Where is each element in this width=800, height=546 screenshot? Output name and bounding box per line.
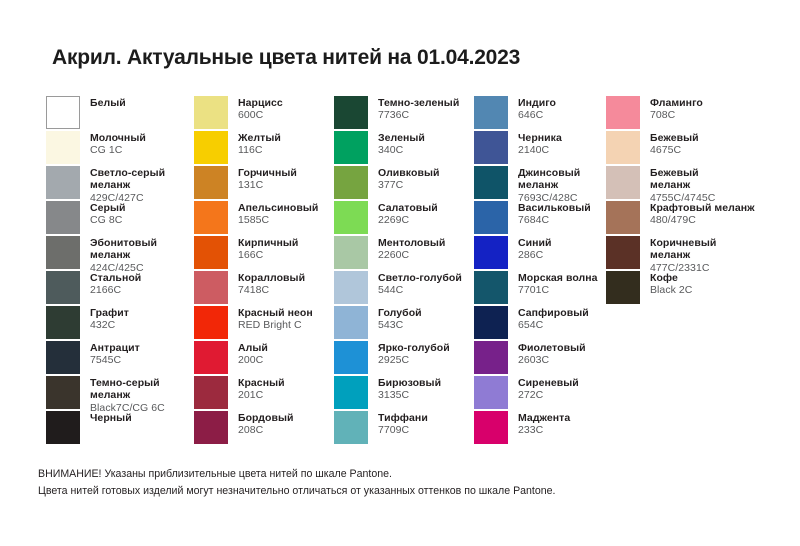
color-labels: Индиго646C xyxy=(518,96,556,122)
color-swatch[interactable] xyxy=(194,306,228,339)
color-labels: Маджента233C xyxy=(518,411,570,437)
color-name: Нарцисс xyxy=(238,97,283,109)
color-row[interactable]: Салатовый2269C xyxy=(334,201,474,236)
color-name: Зеленый xyxy=(378,132,425,144)
color-swatch[interactable] xyxy=(194,236,228,269)
color-name: Салатовый xyxy=(378,202,438,214)
pantone-code: 200C xyxy=(238,354,268,366)
color-name: Красный xyxy=(238,377,285,389)
color-row[interactable]: Бежевый4675C xyxy=(606,131,776,166)
color-row[interactable]: Графит432C xyxy=(46,306,194,341)
color-labels: Красный201C xyxy=(238,376,285,402)
color-row[interactable]: Темно-серыймеланжBlack7C/CG 6C xyxy=(46,376,194,411)
pantone-code: 708C xyxy=(650,109,703,121)
color-name: Бордовый xyxy=(238,412,293,424)
color-swatch[interactable] xyxy=(334,96,368,129)
color-swatch[interactable] xyxy=(474,201,508,234)
pantone-code: 7545C xyxy=(90,354,140,366)
color-name: Оливковый xyxy=(378,167,439,179)
color-swatch[interactable] xyxy=(334,376,368,409)
color-row[interactable]: Темно-зеленый7736C xyxy=(334,96,474,131)
color-name: Бежевыймеланж xyxy=(650,167,715,192)
pantone-code: 208C xyxy=(238,424,293,436)
color-name: Сиреневый xyxy=(518,377,579,389)
color-labels: Бирюзовый3135C xyxy=(378,376,441,402)
color-labels: Ярко-голубой2925C xyxy=(378,341,450,367)
color-swatch[interactable] xyxy=(46,236,80,269)
color-swatch[interactable] xyxy=(194,131,228,164)
color-row[interactable]: Крафтовый меланж480/479C xyxy=(606,201,776,236)
color-name: Тиффани xyxy=(378,412,428,424)
pantone-code: 646C xyxy=(518,109,556,121)
color-name: Эбонитовыймеланж xyxy=(90,237,157,262)
color-row[interactable]: Кирпичный166C xyxy=(194,236,334,271)
color-swatch[interactable] xyxy=(474,96,508,129)
color-name: Синий xyxy=(518,237,552,249)
color-row[interactable]: Апельсиновый1585C xyxy=(194,201,334,236)
pantone-code: 2269C xyxy=(378,214,438,226)
color-labels: Ментоловый2260C xyxy=(378,236,445,262)
color-labels: Оливковый377C xyxy=(378,166,439,192)
color-row[interactable]: Васильковый7684C xyxy=(474,201,606,236)
color-labels: Сапфировый654C xyxy=(518,306,589,332)
color-labels: Сиреневый272C xyxy=(518,376,579,402)
color-swatch[interactable] xyxy=(606,236,640,269)
color-swatch[interactable] xyxy=(474,376,508,409)
color-swatch[interactable] xyxy=(474,411,508,444)
color-labels: Темно-серыймеланжBlack7C/CG 6C xyxy=(90,376,165,414)
color-swatch[interactable] xyxy=(474,341,508,374)
color-row[interactable]: Ментоловый2260C xyxy=(334,236,474,271)
color-row[interactable]: Коралловый7418C xyxy=(194,271,334,306)
color-swatch[interactable] xyxy=(334,131,368,164)
color-swatch[interactable] xyxy=(46,201,80,234)
color-swatch[interactable] xyxy=(334,166,368,199)
column-4-blues: Индиго646CЧерника2140CДжинсовыймеланж769… xyxy=(474,96,606,446)
color-row[interactable]: Бордовый208C xyxy=(194,411,334,446)
color-name: Серый xyxy=(90,202,126,214)
color-swatch[interactable] xyxy=(46,376,80,409)
color-swatch[interactable] xyxy=(606,96,640,129)
color-swatch[interactable] xyxy=(334,271,368,304)
footer-note: ВНИМАНИЕ! Указаны приблизительные цвета … xyxy=(38,466,556,500)
pantone-code: 432C xyxy=(90,319,129,331)
color-row[interactable]: Коричневыймеланж477C/2331C xyxy=(606,236,776,271)
pantone-code: 233C xyxy=(518,424,570,436)
color-swatch[interactable] xyxy=(194,271,228,304)
color-labels: Голубой543C xyxy=(378,306,422,332)
color-row[interactable]: Красный201C xyxy=(194,376,334,411)
color-row[interactable]: Светло-серыймеланж429C/427C xyxy=(46,166,194,201)
pantone-code: 377C xyxy=(378,179,439,191)
color-row[interactable]: Джинсовыймеланж7693C/428C xyxy=(474,166,606,201)
color-name: Черный xyxy=(90,412,132,424)
color-labels: Салатовый2269C xyxy=(378,201,438,227)
color-swatch[interactable] xyxy=(46,306,80,339)
pantone-code: 543C xyxy=(378,319,422,331)
color-row[interactable]: Фламинго708C xyxy=(606,96,776,131)
color-swatch[interactable] xyxy=(46,411,80,444)
pantone-code: 201C xyxy=(238,389,285,401)
pantone-code: 7709C xyxy=(378,424,428,436)
color-row[interactable]: Сиреневый272C xyxy=(474,376,606,411)
color-swatch[interactable] xyxy=(194,96,228,129)
color-swatch[interactable] xyxy=(606,271,640,304)
color-row[interactable]: Ярко-голубой2925C xyxy=(334,341,474,376)
color-labels: Черный xyxy=(90,411,132,424)
column-5-browns: Фламинго708CБежевый4675CБежевыймеланж475… xyxy=(606,96,776,306)
color-swatch[interactable] xyxy=(194,341,228,374)
color-labels: Красный неонRED Bright C xyxy=(238,306,313,332)
pantone-code: CG 1C xyxy=(90,144,146,156)
pantone-code: 2260C xyxy=(378,249,445,261)
pantone-code: CG 8C xyxy=(90,214,126,226)
color-row[interactable]: Тиффани7709C xyxy=(334,411,474,446)
color-swatch[interactable] xyxy=(334,341,368,374)
color-row[interactable]: Красный неонRED Bright C xyxy=(194,306,334,341)
color-row[interactable]: МолочныйCG 1C xyxy=(46,131,194,166)
color-swatch[interactable] xyxy=(46,271,80,304)
color-name: Голубой xyxy=(378,307,422,319)
color-swatch[interactable] xyxy=(606,131,640,164)
color-swatch[interactable] xyxy=(334,306,368,339)
color-chart-page: Акрил. Актуальные цвета нитей на 01.04.2… xyxy=(0,0,800,546)
color-labels: Графит432C xyxy=(90,306,129,332)
footer-line-1: ВНИМАНИЕ! Указаны приблизительные цвета … xyxy=(38,466,556,483)
color-name: Васильковый xyxy=(518,202,591,214)
color-row[interactable]: Маджента233C xyxy=(474,411,606,446)
color-labels: Васильковый7684C xyxy=(518,201,591,227)
color-name: Горчичный xyxy=(238,167,297,179)
color-name: Кирпичный xyxy=(238,237,298,249)
color-name: Белый xyxy=(90,97,126,109)
color-labels: Крафтовый меланж480/479C xyxy=(650,201,755,227)
color-name: Темно-зеленый xyxy=(378,97,459,109)
color-name: Джинсовыймеланж xyxy=(518,167,580,192)
color-labels: Тиффани7709C xyxy=(378,411,428,437)
color-name: Светло-серыймеланж xyxy=(90,167,165,192)
color-labels: Светло-голубой544C xyxy=(378,271,462,297)
color-labels: Бордовый208C xyxy=(238,411,293,437)
color-name: Ментоловый xyxy=(378,237,445,249)
color-row[interactable]: Горчичный131C xyxy=(194,166,334,201)
color-labels: Антрацит7545C xyxy=(90,341,140,367)
color-labels: Бежевый4675C xyxy=(650,131,699,157)
color-row[interactable]: Антрацит7545C xyxy=(46,341,194,376)
color-row[interactable]: Черника2140C xyxy=(474,131,606,166)
color-name: Светло-голубой xyxy=(378,272,462,284)
color-name: Морская волна xyxy=(518,272,598,284)
pantone-code: 2925C xyxy=(378,354,450,366)
color-name: Кофе xyxy=(650,272,692,284)
page-title: Акрил. Актуальные цвета нитей на 01.04.2… xyxy=(52,46,520,70)
color-swatch[interactable] xyxy=(606,201,640,234)
color-swatch[interactable] xyxy=(474,131,508,164)
color-labels: Кирпичный166C xyxy=(238,236,298,262)
color-row[interactable]: Стальной2166C xyxy=(46,271,194,306)
color-labels: Нарцисс600C xyxy=(238,96,283,122)
color-labels: Бежевыймеланж4755C/4745C xyxy=(650,166,715,204)
pantone-code: 272C xyxy=(518,389,579,401)
pantone-code: 2166C xyxy=(90,284,141,296)
column-1-neutrals: БелыйМолочныйCG 1CСветло-серыймеланж429C… xyxy=(46,96,194,446)
pantone-code: 7418C xyxy=(238,284,305,296)
pantone-code: 654C xyxy=(518,319,589,331)
pantone-code: Black 2C xyxy=(650,284,692,296)
color-row[interactable]: Индиго646C xyxy=(474,96,606,131)
color-row[interactable]: Черный xyxy=(46,411,194,446)
color-swatch[interactable] xyxy=(474,271,508,304)
pantone-code: 480/479C xyxy=(650,214,755,226)
color-swatch[interactable] xyxy=(334,236,368,269)
color-swatch[interactable] xyxy=(194,411,228,444)
color-row[interactable]: Бежевыймеланж4755C/4745C xyxy=(606,166,776,201)
color-swatch[interactable] xyxy=(194,166,228,199)
color-row[interactable]: Сапфировый654C xyxy=(474,306,606,341)
pantone-code: 3135C xyxy=(378,389,441,401)
color-swatch[interactable] xyxy=(46,131,80,164)
color-name: Коричневыймеланж xyxy=(650,237,716,262)
color-row[interactable]: Фиолетовый2603C xyxy=(474,341,606,376)
color-labels: Зеленый340C xyxy=(378,131,425,157)
color-labels: Алый200C xyxy=(238,341,268,367)
color-name: Темно-серыймеланж xyxy=(90,377,165,402)
pantone-code: RED Bright C xyxy=(238,319,313,331)
pantone-code: 600C xyxy=(238,109,283,121)
color-name: Стальной xyxy=(90,272,141,284)
color-swatch[interactable] xyxy=(334,201,368,234)
footer-line-2: Цвета нитей готовых изделий могут незнач… xyxy=(38,483,556,500)
color-labels: Апельсиновый1585C xyxy=(238,201,318,227)
color-row[interactable]: Голубой543C xyxy=(334,306,474,341)
color-labels: Белый xyxy=(90,96,126,109)
color-name: Апельсиновый xyxy=(238,202,318,214)
color-swatch[interactable] xyxy=(46,166,80,199)
color-swatch[interactable] xyxy=(46,96,80,129)
color-name: Алый xyxy=(238,342,268,354)
color-swatch[interactable] xyxy=(474,166,508,199)
color-row[interactable]: Светло-голубой544C xyxy=(334,271,474,306)
pantone-code: 4675C xyxy=(650,144,699,156)
color-name: Крафтовый меланж xyxy=(650,202,755,214)
color-row[interactable]: Белый xyxy=(46,96,194,131)
color-labels: Морская волна7701C xyxy=(518,271,598,297)
pantone-code: 340C xyxy=(378,144,425,156)
color-labels: Джинсовыймеланж7693C/428C xyxy=(518,166,580,204)
color-row[interactable]: Морская волна7701C xyxy=(474,271,606,306)
pantone-code: 2603C xyxy=(518,354,586,366)
pantone-code: 166C xyxy=(238,249,298,261)
color-row[interactable]: Желтый116C xyxy=(194,131,334,166)
color-name: Желтый xyxy=(238,132,281,144)
color-name: Маджента xyxy=(518,412,570,424)
color-name: Красный неон xyxy=(238,307,313,319)
color-name: Бежевый xyxy=(650,132,699,144)
pantone-code: 116C xyxy=(238,144,281,156)
color-swatch[interactable] xyxy=(194,376,228,409)
color-swatch[interactable] xyxy=(474,306,508,339)
color-name: Индиго xyxy=(518,97,556,109)
color-labels: МолочныйCG 1C xyxy=(90,131,146,157)
pantone-code: 544C xyxy=(378,284,462,296)
color-name: Сапфировый xyxy=(518,307,589,319)
column-2-warm: Нарцисс600CЖелтый116CГорчичный131CАпельс… xyxy=(194,96,334,446)
color-name: Графит xyxy=(90,307,129,319)
pantone-code: 131C xyxy=(238,179,297,191)
color-swatch[interactable] xyxy=(474,236,508,269)
color-swatch[interactable] xyxy=(606,166,640,199)
color-row[interactable]: Эбонитовыймеланж424C/425C xyxy=(46,236,194,271)
color-row[interactable]: Нарцисс600C xyxy=(194,96,334,131)
color-name: Фиолетовый xyxy=(518,342,586,354)
color-name: Черника xyxy=(518,132,562,144)
pantone-code: 7684C xyxy=(518,214,591,226)
color-row[interactable]: СерыйCG 8C xyxy=(46,201,194,236)
color-name: Антрацит xyxy=(90,342,140,354)
pantone-code: 1585C xyxy=(238,214,318,226)
color-labels: КофеBlack 2C xyxy=(650,271,692,297)
color-row[interactable]: Оливковый377C xyxy=(334,166,474,201)
color-labels: Горчичный131C xyxy=(238,166,297,192)
color-swatch[interactable] xyxy=(334,411,368,444)
color-swatch[interactable] xyxy=(46,341,80,374)
color-labels: Светло-серыймеланж429C/427C xyxy=(90,166,165,204)
color-labels: Желтый116C xyxy=(238,131,281,157)
color-name: Молочный xyxy=(90,132,146,144)
color-labels: Эбонитовыймеланж424C/425C xyxy=(90,236,157,274)
color-labels: Коралловый7418C xyxy=(238,271,305,297)
color-row[interactable]: Бирюзовый3135C xyxy=(334,376,474,411)
color-row[interactable]: КофеBlack 2C xyxy=(606,271,776,306)
color-row[interactable]: Зеленый340C xyxy=(334,131,474,166)
color-labels: Стальной2166C xyxy=(90,271,141,297)
color-name: Фламинго xyxy=(650,97,703,109)
color-labels: СерыйCG 8C xyxy=(90,201,126,227)
pantone-code: 7736C xyxy=(378,109,459,121)
color-labels: Фламинго708C xyxy=(650,96,703,122)
color-labels: Коричневыймеланж477C/2331C xyxy=(650,236,716,274)
pantone-code: 7701C xyxy=(518,284,598,296)
color-labels: Темно-зеленый7736C xyxy=(378,96,459,122)
color-labels: Синий286C xyxy=(518,236,552,262)
color-name: Бирюзовый xyxy=(378,377,441,389)
color-row[interactable]: Синий286C xyxy=(474,236,606,271)
color-swatch[interactable] xyxy=(194,201,228,234)
column-3-greens: Темно-зеленый7736CЗеленый340CОливковый37… xyxy=(334,96,474,446)
color-row[interactable]: Алый200C xyxy=(194,341,334,376)
color-name: Ярко-голубой xyxy=(378,342,450,354)
color-name: Коралловый xyxy=(238,272,305,284)
pantone-code: 286C xyxy=(518,249,552,261)
color-labels: Фиолетовый2603C xyxy=(518,341,586,367)
pantone-code: 2140C xyxy=(518,144,562,156)
color-labels: Черника2140C xyxy=(518,131,562,157)
color-columns: БелыйМолочныйCG 1CСветло-серыймеланж429C… xyxy=(46,96,776,446)
